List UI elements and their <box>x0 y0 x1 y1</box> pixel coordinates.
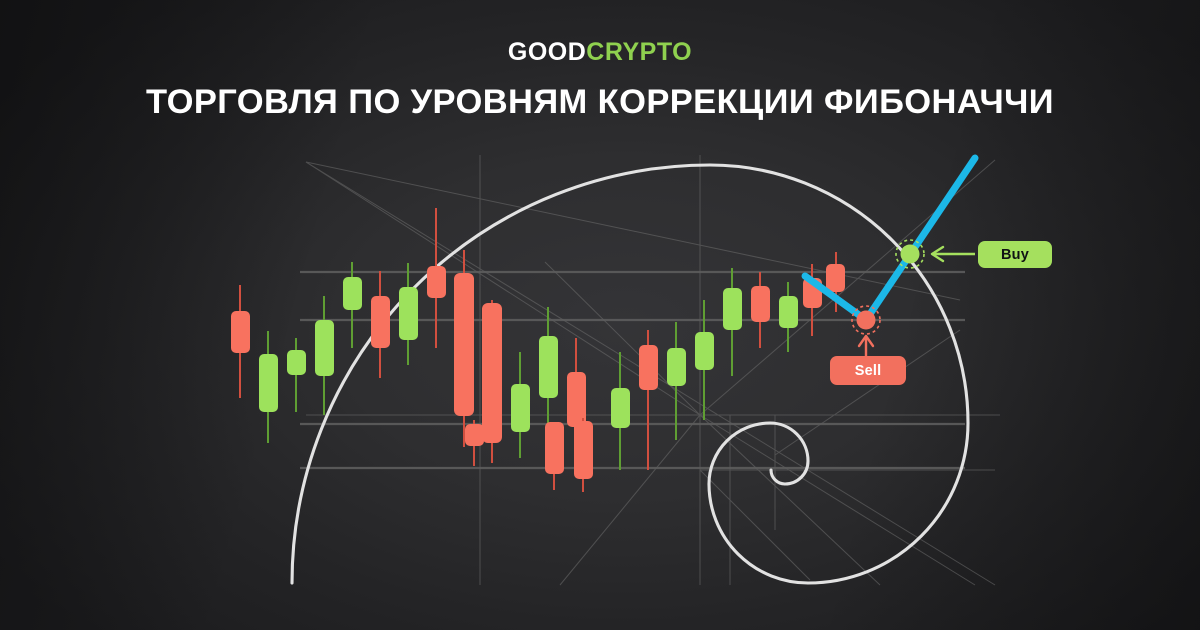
candle <box>545 422 564 490</box>
candle <box>399 263 418 365</box>
candle <box>667 322 686 440</box>
sell-badge[interactable]: Sell <box>830 356 906 385</box>
candle <box>231 285 250 398</box>
brand-logo-crypto: CRYPTO <box>586 38 692 66</box>
candle <box>287 338 306 412</box>
candle <box>611 352 630 470</box>
candlestick-series <box>231 208 845 492</box>
candle <box>639 330 658 470</box>
candle <box>454 250 474 447</box>
candle <box>779 282 798 352</box>
buy-badge[interactable]: Buy <box>978 241 1052 268</box>
candle <box>751 272 770 348</box>
candle <box>259 331 278 443</box>
page-title: ТОРГОВЛЯ ПО УРОВНЯМ КОРРЕКЦИИ ФИБОНАЧЧИ <box>0 83 1200 122</box>
brand-logo: GOODCRYPTO <box>0 38 1200 67</box>
candle <box>427 208 446 348</box>
candle <box>371 271 390 378</box>
brand-logo-good: GOOD <box>508 38 586 66</box>
candle <box>511 352 530 458</box>
candle <box>343 262 362 348</box>
poster-canvas: GOODCRYPTO ТОРГОВЛЯ ПО УРОВНЯМ КОРРЕКЦИИ… <box>0 0 1200 630</box>
buy-callout-arrow <box>932 247 975 261</box>
sell-callout-arrow <box>859 336 873 356</box>
candle <box>465 420 484 466</box>
candle <box>723 268 742 376</box>
candle <box>482 300 502 463</box>
candle <box>315 296 334 415</box>
candle <box>574 418 593 492</box>
